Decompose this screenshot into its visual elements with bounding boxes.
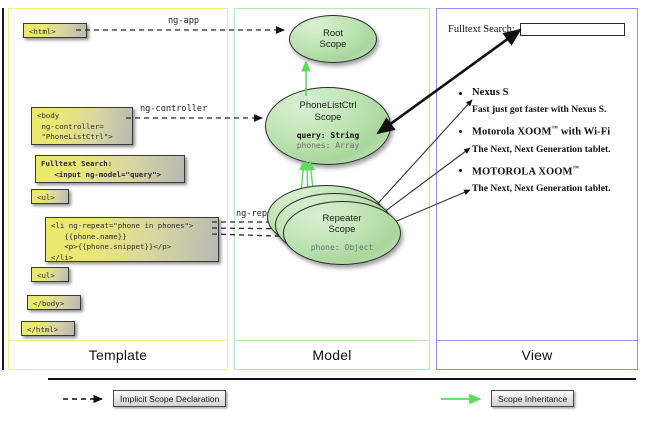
trademark-icon: ™ [573, 165, 580, 172]
left-vertical-rule [2, 8, 4, 370]
legend-divider [48, 378, 636, 380]
code-box-li-ng-repeat: <li ng-repeat="phone in phones"> {{phone… [45, 217, 219, 262]
green-arrow-icon [440, 393, 486, 405]
template-column-label: Template [9, 340, 227, 369]
list-item[interactable]: Nexus S Fast just got faster with Nexus … [455, 87, 629, 115]
view-item-name-1-suffix: with Wi-Fi [558, 127, 610, 138]
legend-label-implicit-scope-declaration: Implicit Scope Declaration [113, 390, 226, 407]
view-column-body: Fulltext Search: Nexus S Fast just got f… [437, 9, 637, 341]
list-item[interactable]: MOTOROLA XOOM™ The Next, Next Generation… [455, 165, 629, 195]
view-item-name-1: Motorola XOOM™ with Wi-Fi [472, 125, 629, 138]
view-search-row: Fulltext Search: [448, 23, 625, 36]
code-box-html-tag: <html> [23, 23, 87, 38]
code-box-ul-close: <ul> [31, 267, 69, 282]
repeater-scope-oval-front: Repeater Scope phone: Object [283, 201, 401, 265]
phonelistctrl-scope-title-line1: PhoneListCtrl [299, 100, 356, 111]
diagram-canvas: <html> <body ng-controller= "PhoneListCt… [0, 0, 645, 425]
repeater-scope-title-line2: Scope [329, 224, 356, 235]
repeater-scope-field-phone: phone: Object [311, 243, 374, 253]
view-search-input[interactable] [520, 23, 625, 36]
list-item[interactable]: Motorola XOOM™ with Wi-Fi The Next, Next… [455, 125, 629, 155]
code-box-html-close: </html> [21, 321, 75, 336]
legend-item-scope-inheritance: Scope Inheritance [440, 390, 574, 407]
legend: Implicit Scope Declaration Scope Inherit… [48, 386, 638, 420]
view-item-snippet-0: Fast just got faster with Nexus S. [472, 104, 629, 115]
dashed-arrow-icon [62, 393, 108, 405]
view-column-label: View [437, 340, 637, 369]
phonelistctrl-scope-oval: PhoneListCtrl Scope query: String phones… [265, 87, 391, 165]
bullet-icon [459, 92, 462, 95]
phonelistctrl-scope-field-query: query: String [297, 131, 360, 141]
view-column-panel: Fulltext Search: Nexus S Fast just got f… [436, 8, 638, 370]
ng-app-label: ng-app [168, 16, 199, 26]
template-column-body: <html> <body ng-controller= "PhoneListCt… [9, 9, 227, 341]
view-item-snippet-1: The Next, Next Generation tablet. [472, 144, 629, 155]
template-column-panel: <html> <body ng-controller= "PhoneListCt… [8, 8, 228, 370]
bullet-icon [459, 169, 462, 172]
legend-item-implicit-scope-declaration: Implicit Scope Declaration [62, 390, 226, 407]
code-box-fulltext-search: Fulltext Search: <input ng-model="query"… [35, 155, 185, 183]
root-scope-title-line1: Root [323, 28, 343, 39]
model-column-panel: Root Scope PhoneListCtrl Scope query: St… [234, 8, 430, 370]
ng-controller-label: ng-controller [140, 104, 207, 114]
view-item-name-1-text: Motorola XOOM [472, 127, 552, 138]
repeater-scope-title-line1: Repeater [322, 213, 361, 224]
view-item-name-2-text: MOTOROLA XOOM [472, 166, 573, 177]
view-search-label: Fulltext Search: [448, 24, 515, 35]
view-phone-list: Nexus S Fast just got faster with Nexus … [455, 87, 629, 204]
code-box-ul-open: <ul> [31, 189, 69, 204]
view-item-name-2: MOTOROLA XOOM™ [472, 165, 629, 178]
view-item-name-0: Nexus S [472, 87, 629, 98]
code-box-body-close: </body> [27, 295, 81, 310]
bullet-icon [459, 130, 462, 133]
model-column-body: Root Scope PhoneListCtrl Scope query: St… [235, 9, 429, 341]
phonelistctrl-scope-title-line2: Scope [315, 112, 342, 123]
phonelistctrl-scope-field-phones: phones: Array [297, 141, 360, 151]
code-box-body-tag: <body ng-controller= "PhoneListCtrl"> [31, 107, 133, 145]
root-scope-oval: Root Scope [289, 15, 377, 63]
view-item-snippet-2: The Next, Next Generation tablet. [472, 183, 629, 194]
model-column-label: Model [235, 340, 429, 369]
root-scope-title-line2: Scope [320, 39, 347, 50]
legend-label-scope-inheritance: Scope Inheritance [491, 390, 574, 407]
